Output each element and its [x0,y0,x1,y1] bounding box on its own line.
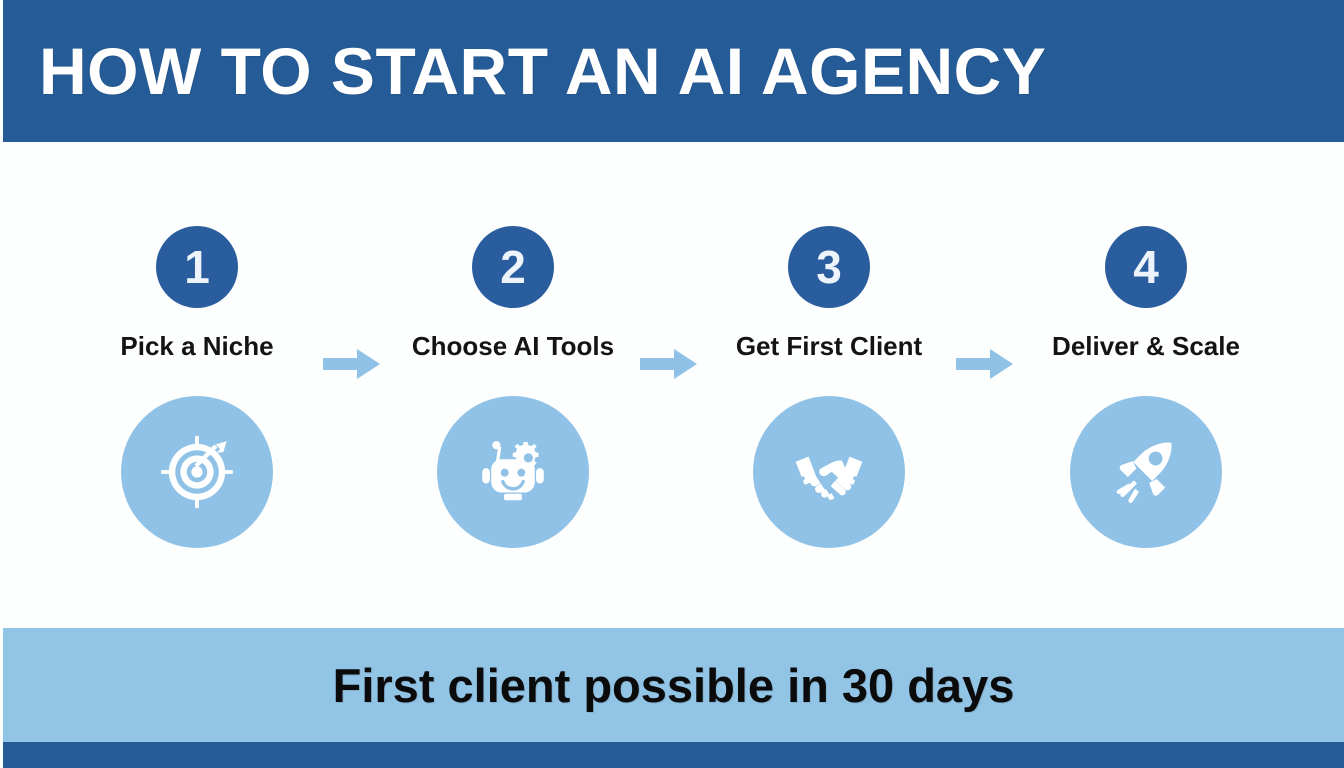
footer-banner: First client possible in 30 days [3,628,1344,742]
step-item-1[interactable]: 1 Pick a Niche [92,142,302,628]
target-arrow-icon [156,431,238,513]
header-bar: HOW TO START AN AI AGENCY [3,0,1344,142]
step-label-4: Deliver & Scale [1041,332,1251,362]
step-icon-circle-2 [437,396,589,548]
footer-accent-strip [3,742,1344,768]
step-number-badge-2: 2 [472,226,554,308]
step-item-4[interactable]: 4 Deliver & Scale [1041,142,1251,628]
step-icon-circle-3 [753,396,905,548]
arrow-right-icon [640,346,698,382]
step-label-3: Get First Client [724,332,934,362]
rocket-icon [1105,431,1187,513]
step-number-badge-4: 4 [1105,226,1187,308]
infographic-root: HOW TO START AN AI AGENCY 1 Pick a Niche [0,0,1344,768]
connector-arrow-2 [640,346,698,382]
step-item-2[interactable]: 2 Choose AI Tools [408,142,618,628]
step-number-badge-3: 3 [788,226,870,308]
robot-gear-icon [472,431,554,513]
connector-arrow-3 [956,346,1014,382]
step-icon-circle-1 [121,396,273,548]
step-label-2: Choose AI Tools [408,332,618,362]
steps-container: 1 Pick a Niche [3,142,1344,628]
handshake-icon [788,431,870,513]
arrow-right-icon [956,346,1014,382]
page-title: HOW TO START AN AI AGENCY [39,38,1046,104]
step-number-badge-1: 1 [156,226,238,308]
step-item-3[interactable]: 3 Get First Client [724,142,934,628]
step-label-1: Pick a Niche [92,332,302,362]
step-icon-circle-4 [1070,396,1222,548]
connector-arrow-1 [323,346,381,382]
arrow-right-icon [323,346,381,382]
footer-callout-text: First client possible in 30 days [333,662,1015,709]
